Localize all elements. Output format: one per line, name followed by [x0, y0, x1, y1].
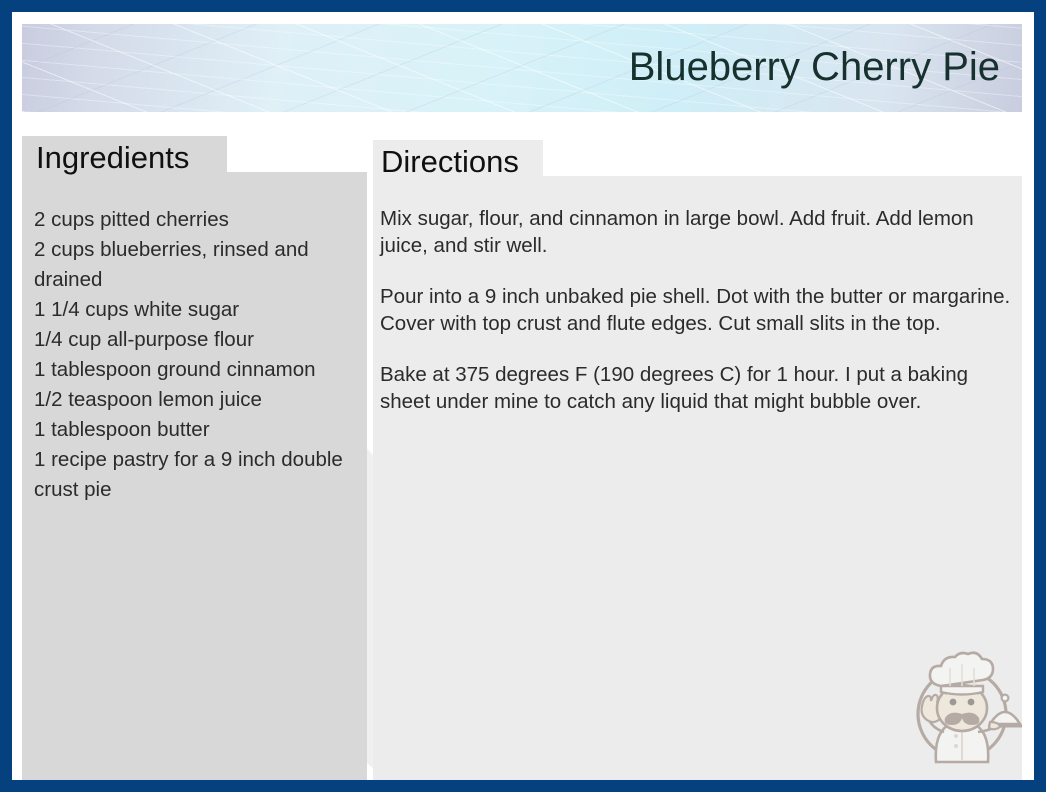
- chef-mascot-logo: [900, 644, 1024, 768]
- directions-heading-tab: Directions: [373, 140, 543, 182]
- list-item: 1/4 cup all-purpose flour: [34, 325, 366, 355]
- directions-heading: Directions: [381, 146, 519, 177]
- ingredients-list: 2 cups pitted cherries 2 cups blueberrie…: [34, 205, 366, 505]
- list-item: 1 tablespoon ground cinnamon: [34, 355, 366, 385]
- slide-stage: Blueberry Cherry Pie Ingredients 2 cups …: [12, 12, 1034, 780]
- page-title: Blueberry Cherry Pie: [629, 45, 1000, 89]
- list-item: 1 recipe pastry for a 9 inch double crus…: [34, 445, 366, 505]
- list-item: 1 tablespoon butter: [34, 415, 366, 445]
- ingredients-heading-tab: Ingredients: [22, 136, 227, 178]
- direction-step: Bake at 375 degrees F (190 degrees C) fo…: [380, 361, 1012, 415]
- list-item: 2 cups pitted cherries: [34, 205, 366, 235]
- directions-steps: Mix sugar, flour, and cinnamon in large …: [380, 205, 1012, 415]
- title-banner: Blueberry Cherry Pie: [22, 24, 1022, 112]
- list-item: 1/2 teaspoon lemon juice: [34, 385, 366, 415]
- direction-step: Mix sugar, flour, and cinnamon in large …: [380, 205, 1012, 259]
- list-item: 2 cups blueberries, rinsed and drained: [34, 235, 366, 295]
- ingredients-heading: Ingredients: [36, 142, 189, 173]
- recipe-card-slide: Blueberry Cherry Pie Ingredients 2 cups …: [0, 0, 1046, 792]
- direction-step: Pour into a 9 inch unbaked pie shell. Do…: [380, 283, 1012, 337]
- list-item: 1 1/4 cups white sugar: [34, 295, 366, 325]
